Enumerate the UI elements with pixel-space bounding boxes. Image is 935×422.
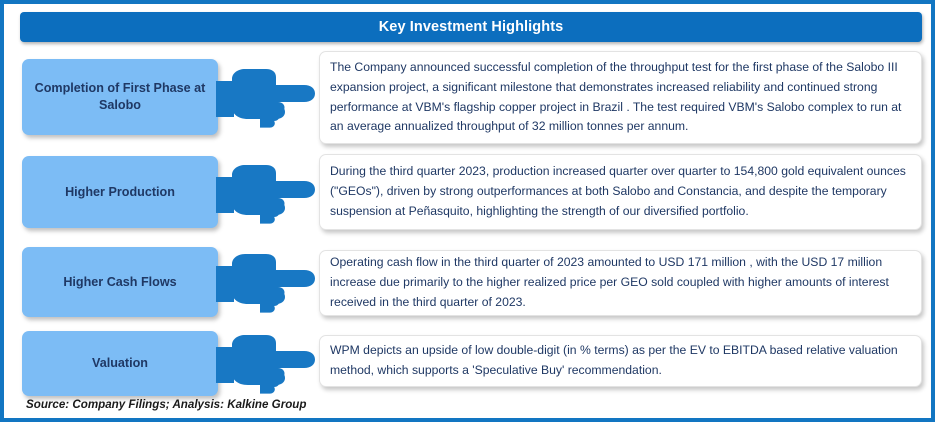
pointing-hand-right-icon: [216, 250, 324, 316]
highlight-label-text: Higher Production: [65, 184, 175, 201]
highlight-content-card: During the third quarter 2023, productio…: [319, 154, 922, 230]
highlight-content-card: Operating cash flow in the third quarter…: [319, 250, 922, 316]
highlight-row: Valuation WPM depicts an upside of low d…: [4, 331, 935, 396]
highlight-content-text: WPM depicts an upside of low double-digi…: [330, 341, 909, 381]
highlight-row: Higher Cash Flows Operating cash flow in…: [4, 247, 935, 319]
highlight-row: Higher Production During the third quart…: [4, 154, 935, 230]
highlight-content-text: During the third quarter 2023, productio…: [330, 162, 909, 221]
highlight-content-text: The Company announced successful complet…: [330, 58, 909, 137]
infographic-frame: Key Investment Highlights Completion of …: [0, 0, 935, 422]
page-title-banner: Key Investment Highlights: [20, 12, 922, 42]
source-note: Source: Company Filings; Analysis: Kalki…: [26, 398, 306, 411]
pointing-hand-right-icon: [216, 331, 324, 397]
pointing-hand-right-icon: [216, 65, 324, 131]
highlight-row: Completion of First Phase at Salobo The …: [4, 51, 935, 144]
highlight-content-card: The Company announced successful complet…: [319, 51, 922, 144]
highlight-label-text: Valuation: [92, 355, 148, 372]
highlight-content-text: Operating cash flow in the third quarter…: [330, 253, 909, 312]
highlight-label-text: Higher Cash Flows: [63, 274, 176, 291]
highlight-content-card: WPM depicts an upside of low double-digi…: [319, 335, 922, 387]
highlight-label-higher-production[interactable]: Higher Production: [22, 156, 218, 228]
highlight-label-completion-of-first-phase-at-salobo[interactable]: Completion of First Phase at Salobo: [22, 59, 218, 135]
highlight-label-higher-cash-flows[interactable]: Higher Cash Flows: [22, 247, 218, 317]
highlight-label-text: Completion of First Phase at Salobo: [30, 80, 210, 113]
pointing-hand-right-icon: [216, 161, 324, 227]
highlight-label-valuation[interactable]: Valuation: [22, 331, 218, 396]
page-title: Key Investment Highlights: [379, 19, 564, 35]
